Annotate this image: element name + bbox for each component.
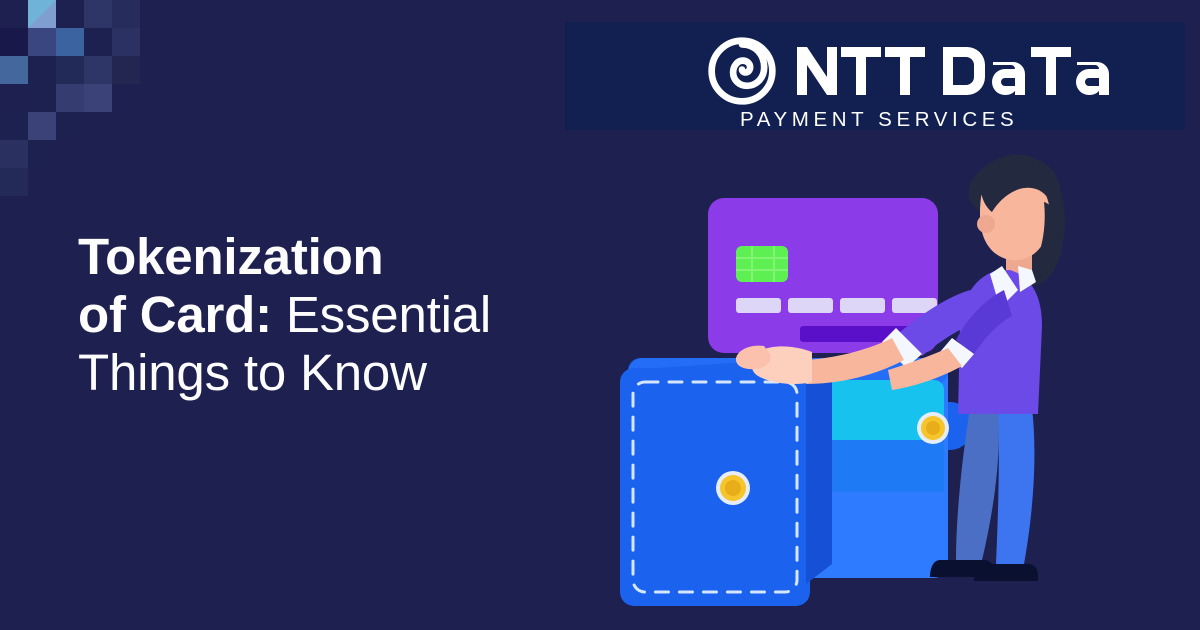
logo-subtitle: PAYMENT SERVICES bbox=[740, 108, 1018, 132]
logo-row bbox=[705, 34, 1125, 108]
headline-bold-2: of Card: bbox=[78, 286, 272, 343]
mosaic-tile bbox=[28, 84, 56, 112]
wallet-illustration bbox=[620, 358, 972, 606]
mosaic-tile bbox=[84, 0, 112, 28]
ntt-data-wordmark bbox=[795, 45, 1125, 97]
mosaic-tile bbox=[0, 112, 28, 140]
decorative-pixel-mosaic bbox=[0, 0, 150, 200]
mosaic-tile bbox=[28, 28, 56, 56]
mosaic-tile bbox=[0, 28, 28, 56]
mosaic-tile bbox=[0, 140, 28, 168]
ntt-data-logo-panel: PAYMENT SERVICES bbox=[565, 22, 1185, 130]
mosaic-tile bbox=[56, 56, 84, 84]
mosaic-tile bbox=[28, 56, 56, 84]
mosaic-tile bbox=[56, 0, 84, 28]
headline-bold-1: Tokenization bbox=[78, 228, 384, 285]
mosaic-tile bbox=[84, 28, 112, 56]
mosaic-tile bbox=[28, 112, 56, 140]
mosaic-tile bbox=[56, 28, 84, 56]
hero-illustration bbox=[600, 140, 1200, 630]
mosaic-tile bbox=[56, 84, 84, 112]
mosaic-tile bbox=[0, 168, 28, 196]
mosaic-tile bbox=[112, 0, 140, 28]
mosaic-tile bbox=[84, 84, 112, 112]
ntt-data-circle-teardrop-logo bbox=[705, 34, 779, 108]
mosaic-tile bbox=[28, 140, 56, 168]
mosaic-tile bbox=[84, 56, 112, 84]
mosaic-tile bbox=[56, 112, 84, 140]
mosaic-tile bbox=[0, 56, 28, 84]
mosaic-tile bbox=[112, 56, 140, 84]
page-title: Tokenization of Card: Essential Things t… bbox=[78, 228, 638, 402]
banner: PAYMENT SERVICES Tokenization of Card: E… bbox=[0, 0, 1200, 630]
mosaic-tile bbox=[112, 28, 140, 56]
